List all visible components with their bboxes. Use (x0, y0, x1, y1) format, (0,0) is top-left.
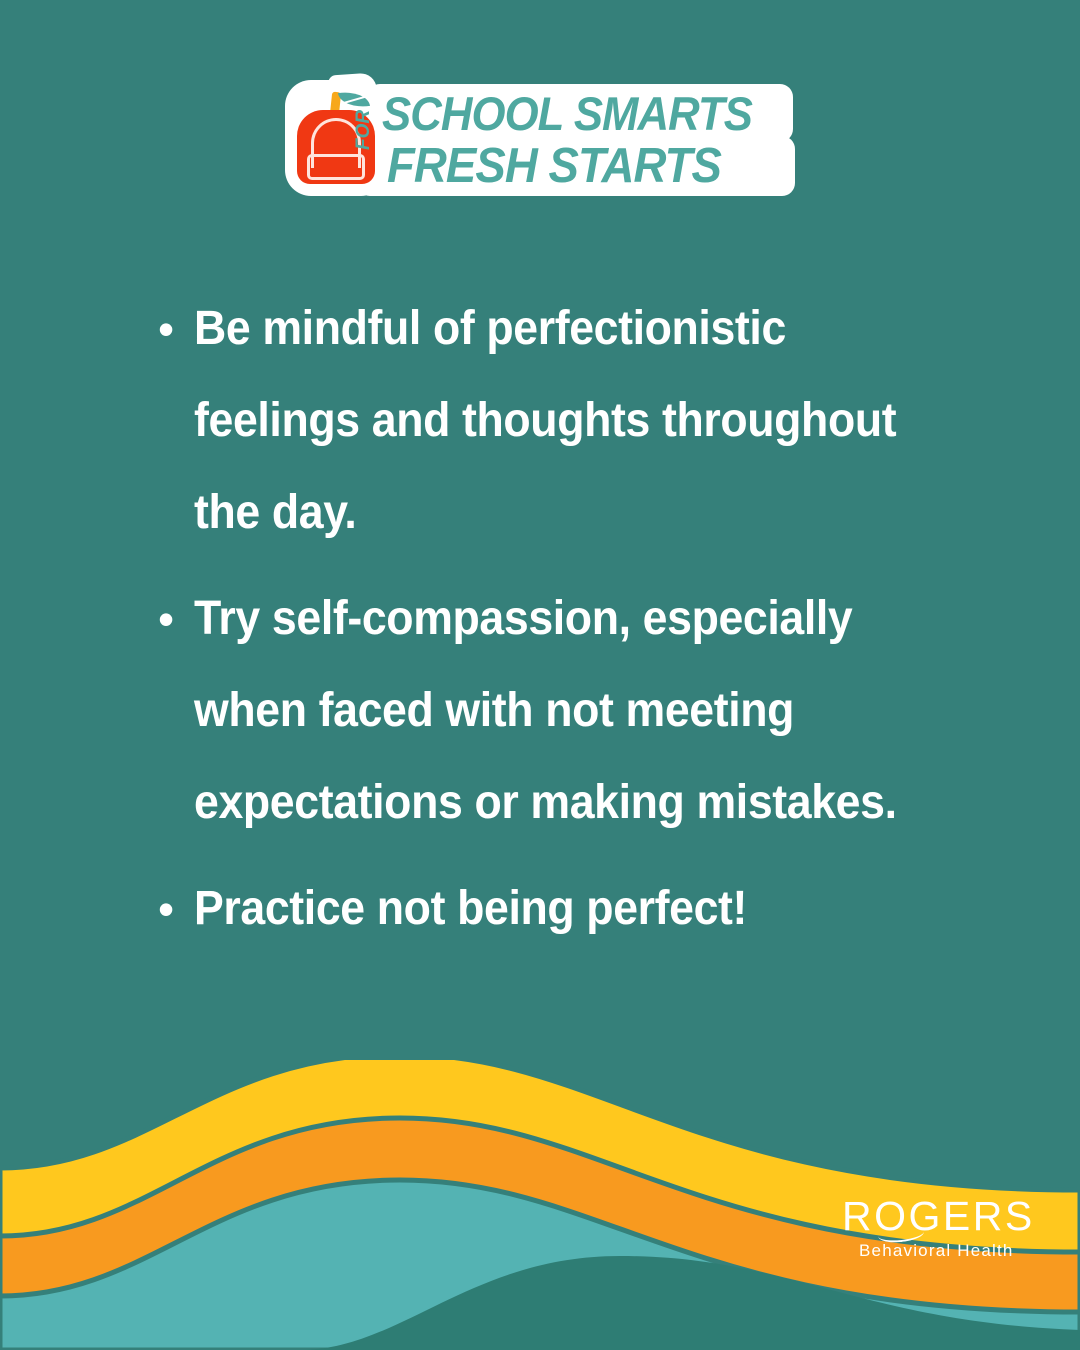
backpack-pocket-icon (307, 154, 365, 180)
rogers-tagline: Behavioral Health (859, 1242, 1014, 1259)
logo-line-2: FRESH STARTS (387, 142, 721, 191)
rogers-behavioral-health-logo: ROGERS Behavioral Health (842, 1196, 1032, 1262)
poster-canvas: SCHOOL SMARTS FOR FRESH STARTS • Be mind… (0, 0, 1080, 1350)
list-item-text: Be mindful of perfectionistic feelings a… (194, 283, 953, 559)
logo-for-label: FOR (353, 110, 375, 150)
school-smarts-logo: SCHOOL SMARTS FOR FRESH STARTS (283, 72, 798, 202)
tips-list: • Be mindful of perfectionistic feelings… (150, 283, 1010, 969)
bullet-dot-icon: • (150, 573, 194, 665)
bullet-dot-icon: • (150, 863, 194, 955)
list-item: • Try self-compassion, especially when f… (150, 573, 1010, 849)
list-item: • Be mindful of perfectionistic feelings… (150, 283, 1010, 559)
list-item: • Practice not being perfect! (150, 863, 1010, 955)
list-item-text: Practice not being perfect! (194, 863, 953, 955)
list-item-text: Try self-compassion, especially when fac… (194, 573, 953, 849)
bullet-dot-icon: • (150, 283, 194, 375)
logo-line-1: SCHOOL SMARTS (382, 90, 752, 137)
rogers-wordmark: ROGERS (842, 1196, 1035, 1237)
